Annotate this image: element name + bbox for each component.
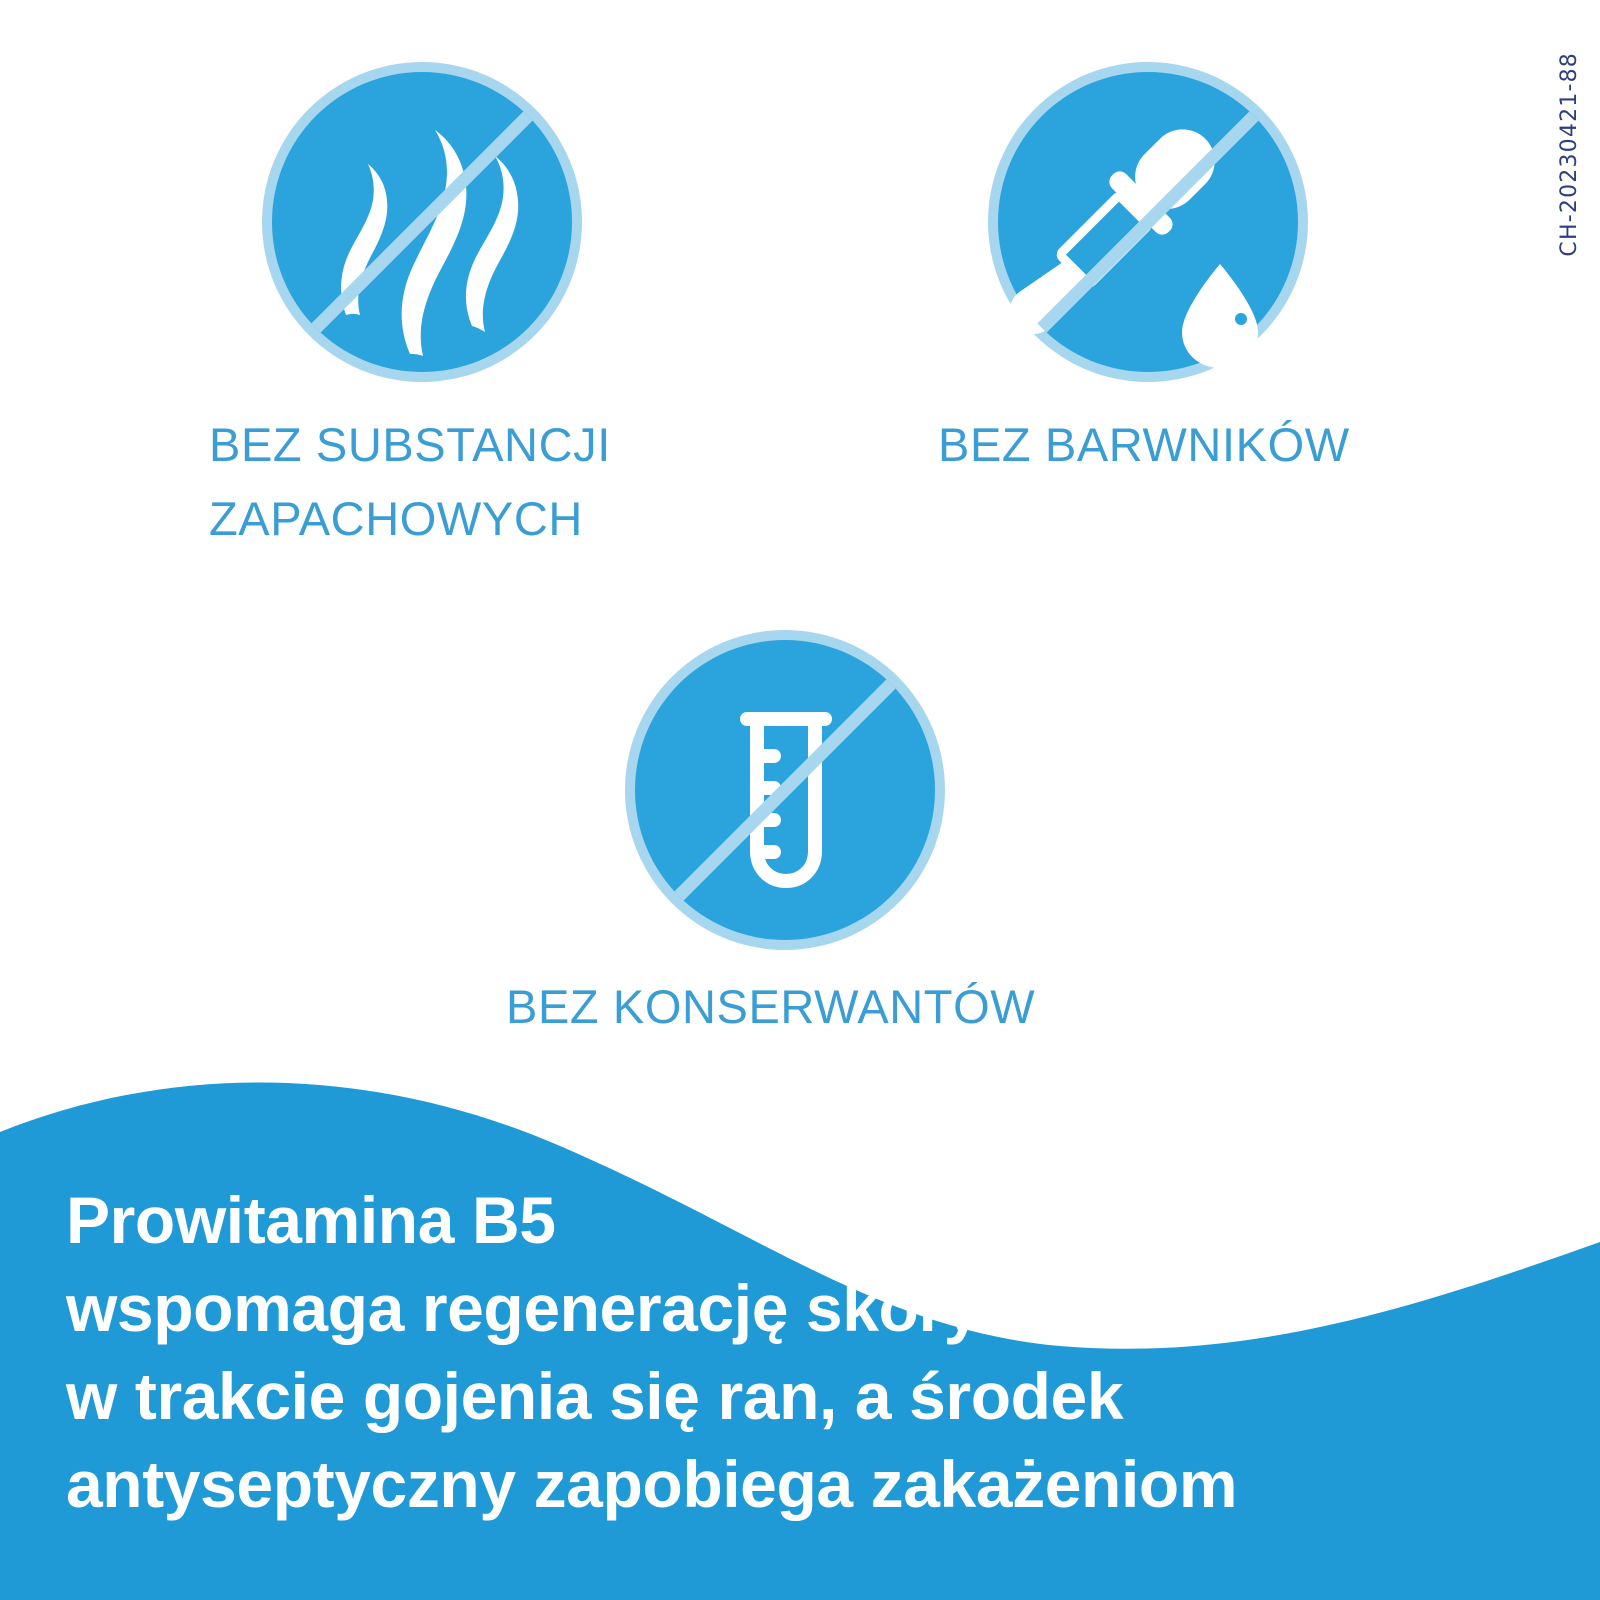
feature-label-no-dyes: BEZ BARWNIKÓW [938,408,1498,482]
no-fragrance-badge [258,58,586,386]
promo-graphic-page: CH-20230421-88 [0,0,1600,1600]
no-fragrance-icon [258,58,586,386]
no-dye-dropper-icon [984,58,1312,386]
no-preservatives-test-tube-icon [621,626,949,954]
promo-line-2: wspomaga regenerację skóry [66,1264,1516,1352]
promo-line-3: w trakcie gojenia się ran, a środek [66,1352,1516,1440]
promo-copy: Prowitamina B5 wspomaga regenerację skór… [66,1176,1516,1528]
promo-line-1: Prowitamina B5 [66,1176,1516,1264]
legal-code-vertical: CH-20230421-88 [1557,52,1582,257]
feature-label-no-fragrance: BEZ SUBSTANCJI ZAPACHOWYCH [209,408,769,556]
promo-line-4: antyseptyczny zapobiega zakażeniom [66,1440,1516,1528]
feature-label-no-preservatives: BEZ KONSERWANTÓW [506,970,1206,1044]
no-preservatives-badge [621,626,949,954]
no-dye-badge [984,58,1312,386]
